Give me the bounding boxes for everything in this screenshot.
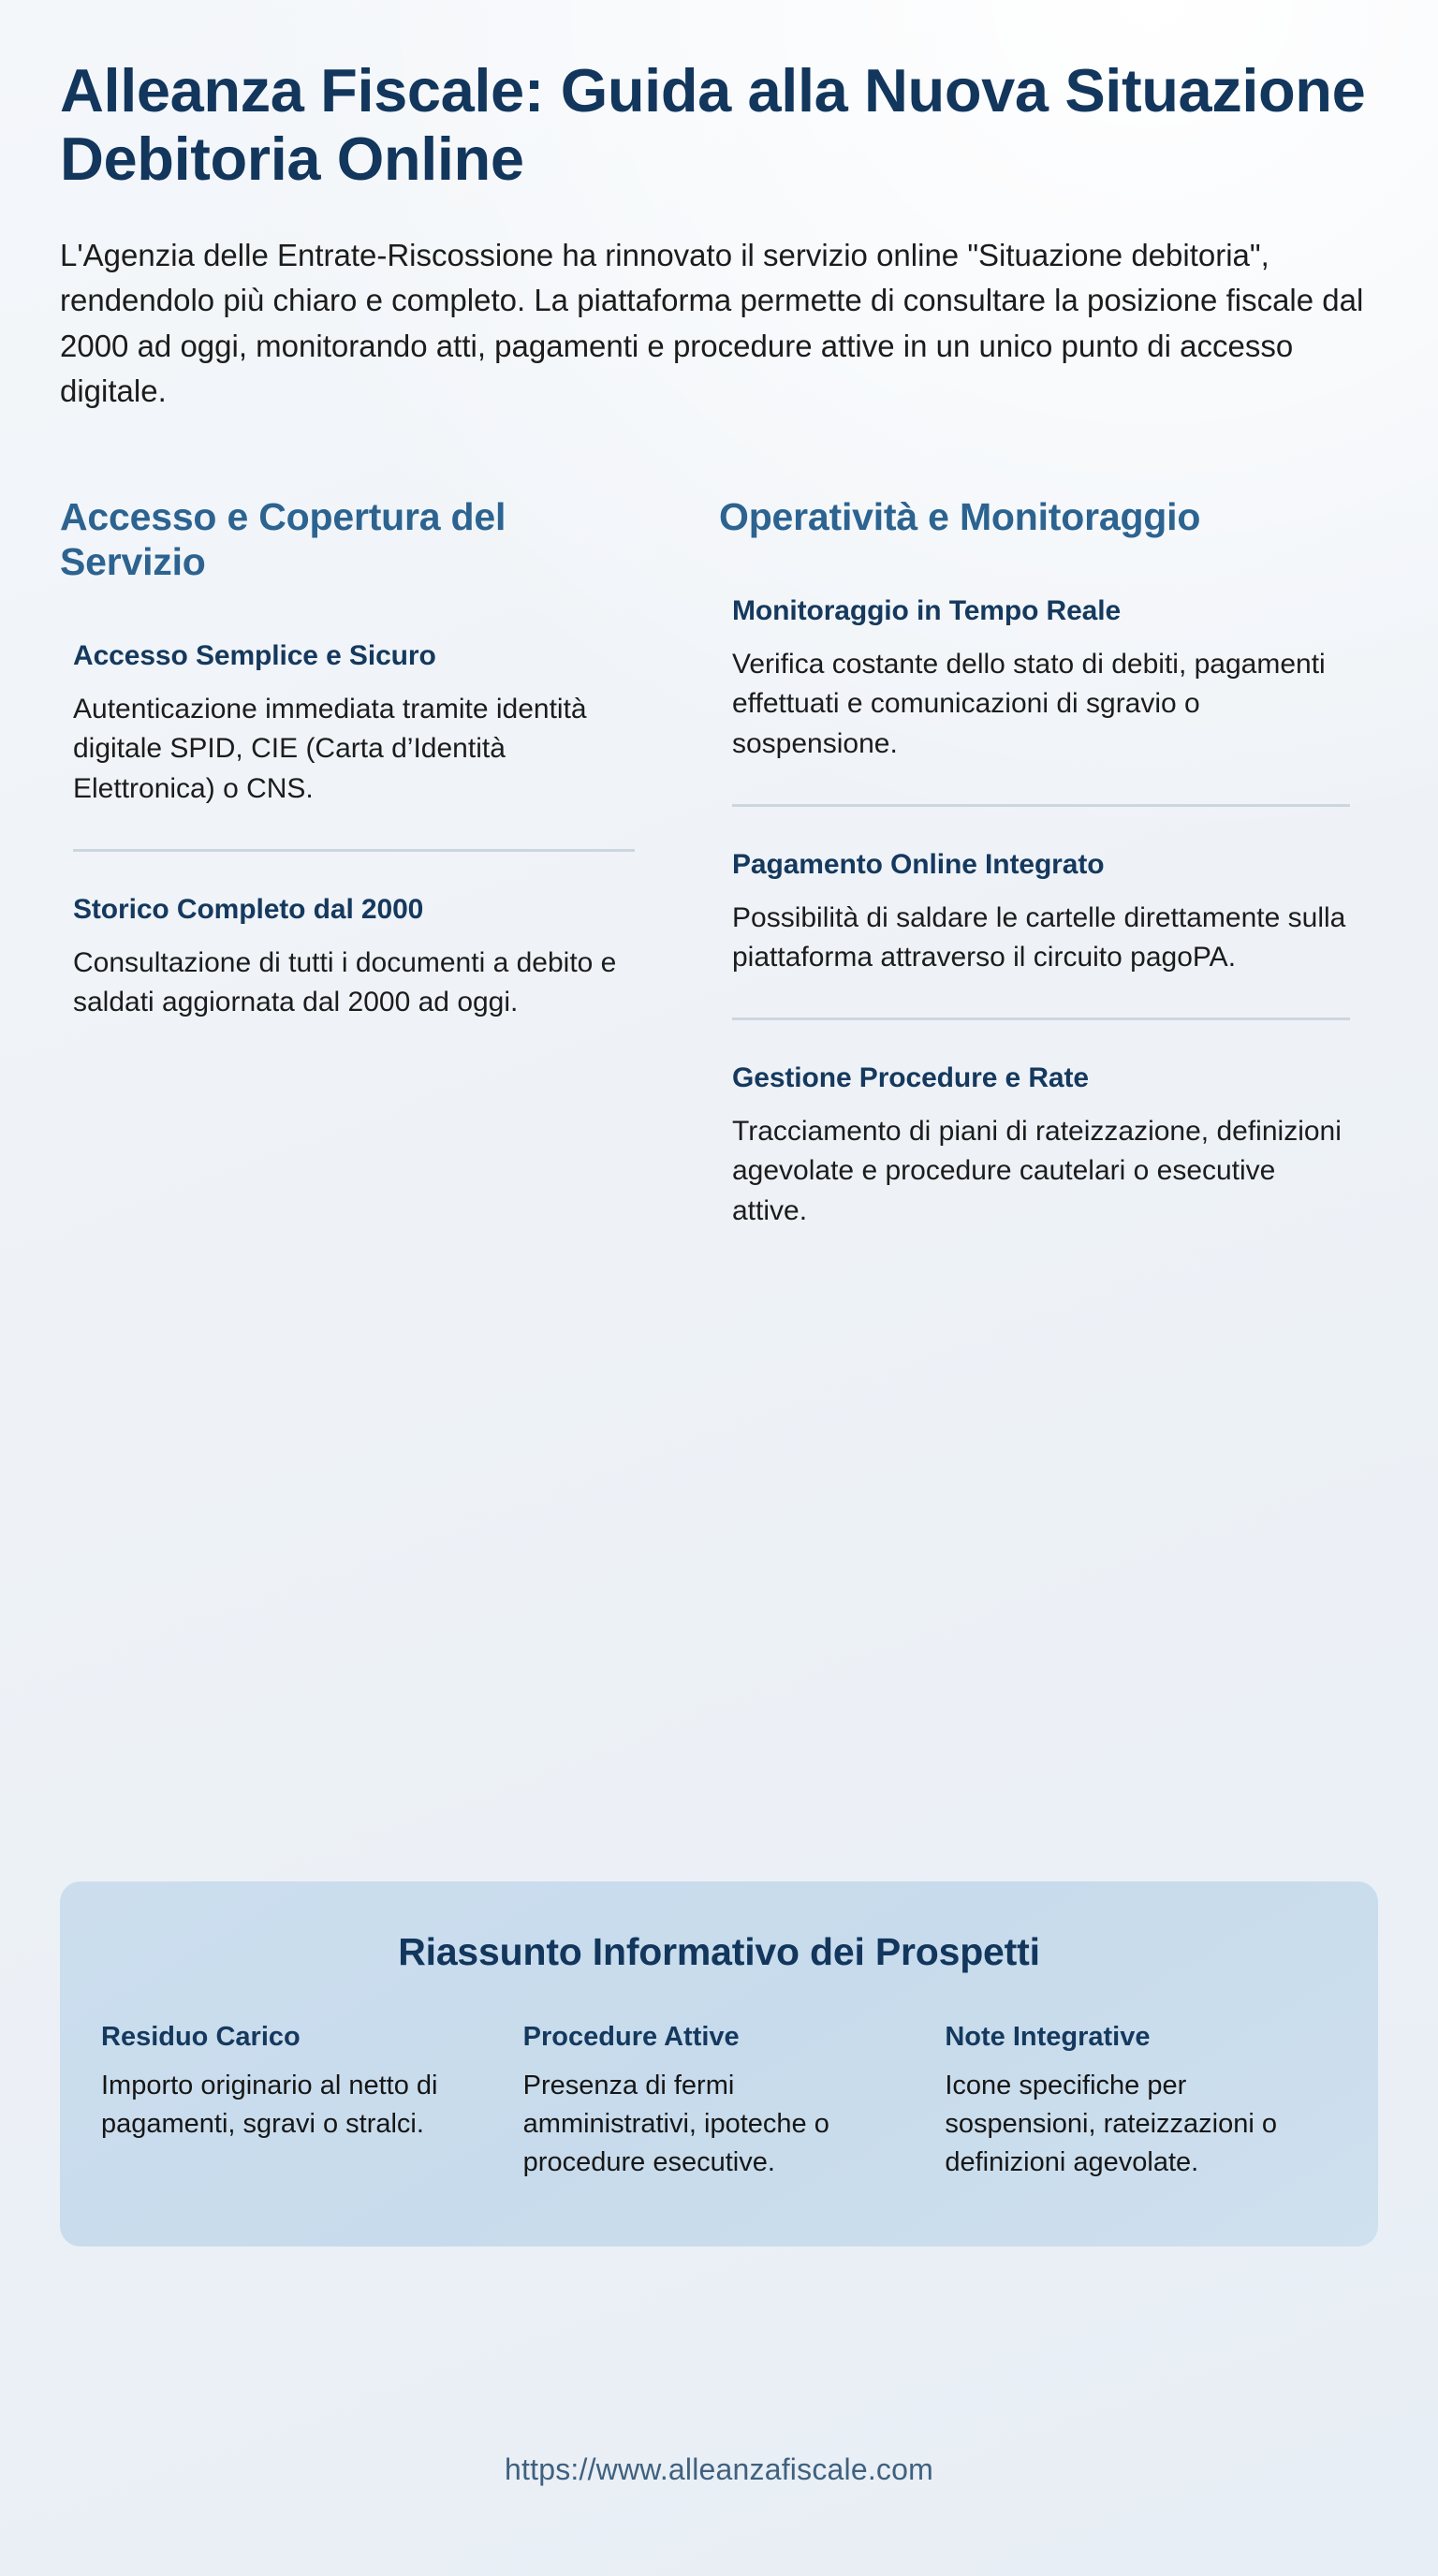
summary-column-body: Presenza di fermi amministrativi, ipotec… — [523, 2067, 916, 2182]
intro-paragraph: L'Agenzia delle Entrate-Riscossione ha r… — [60, 233, 1375, 415]
summary-column-body: Icone specifiche per sospensioni, rateiz… — [945, 2067, 1337, 2182]
summary-column-note-integrative: Note Integrative Icone specifiche per so… — [945, 2021, 1337, 2181]
summary-columns: Residuo Carico Importo originario al net… — [101, 2021, 1337, 2181]
item-divider — [732, 804, 1350, 807]
item-body: Autenticazione immediata tramite identit… — [73, 690, 635, 810]
column-accesso-copertura: Accesso e Copertura del Servizio Accesso… — [60, 495, 719, 1232]
item-divider — [73, 849, 635, 852]
item-body: Consultazione di tutti i documenti a deb… — [73, 944, 635, 1023]
item-title: Pagamento Online Integrato — [732, 848, 1350, 882]
item-body: Verifica costante dello stato di debiti,… — [732, 645, 1350, 765]
summary-column-title: Residuo Carico — [101, 2021, 493, 2054]
summary-column-title: Procedure Attive — [523, 2021, 916, 2054]
content-columns: Accesso e Copertura del Servizio Accesso… — [60, 495, 1378, 1232]
column-heading: Accesso e Copertura del Servizio — [60, 495, 635, 585]
column-items: Accesso Semplice e Sicuro Autenticazione… — [60, 639, 635, 1023]
list-item: Storico Completo dal 2000 Consultazione … — [60, 893, 635, 1023]
summary-title: Riassunto Informativo dei Prospetti — [101, 1930, 1337, 1974]
page-title-accent: Alleanza Fiscale: — [60, 56, 544, 124]
summary-column-procedure-attive: Procedure Attive Presenza di fermi ammin… — [523, 2021, 916, 2181]
summary-column-title: Note Integrative — [945, 2021, 1337, 2054]
footer-url[interactable]: https://www.alleanzafiscale.com — [505, 2452, 933, 2486]
footer: https://www.alleanzafiscale.com — [0, 2452, 1438, 2487]
column-heading: Operatività e Monitoraggio — [719, 495, 1350, 540]
column-items: Monitoraggio in Tempo Reale Verifica cos… — [719, 594, 1350, 1232]
summary-column-body: Importo originario al netto di pagamenti… — [101, 2067, 493, 2144]
summary-panel: Riassunto Informativo dei Prospetti Resi… — [60, 1881, 1378, 2247]
page-title: Alleanza Fiscale: Guida alla Nuova Situa… — [60, 56, 1378, 194]
header: Alleanza Fiscale: Guida alla Nuova Situa… — [60, 0, 1378, 415]
item-title: Gestione Procedure e Rate — [732, 1061, 1350, 1095]
item-title: Accesso Semplice e Sicuro — [73, 639, 635, 673]
item-body: Tracciamento di piani di rateizzazione, … — [732, 1112, 1350, 1232]
summary-column-residuo-carico: Residuo Carico Importo originario al net… — [101, 2021, 493, 2181]
list-item: Gestione Procedure e Rate Tracciamento d… — [719, 1061, 1350, 1232]
infographic-page: Alleanza Fiscale: Guida alla Nuova Situa… — [0, 0, 1438, 2576]
item-divider — [732, 1017, 1350, 1020]
list-item: Accesso Semplice e Sicuro Autenticazione… — [60, 639, 635, 810]
column-operativita-monitoraggio: Operatività e Monitoraggio Monitoraggio … — [719, 495, 1378, 1232]
list-item: Pagamento Online Integrato Possibilità d… — [719, 848, 1350, 978]
item-title: Storico Completo dal 2000 — [73, 893, 635, 927]
list-item: Monitoraggio in Tempo Reale Verifica cos… — [719, 594, 1350, 765]
item-title: Monitoraggio in Tempo Reale — [732, 594, 1350, 628]
item-body: Possibilità di saldare le cartelle diret… — [732, 899, 1350, 978]
